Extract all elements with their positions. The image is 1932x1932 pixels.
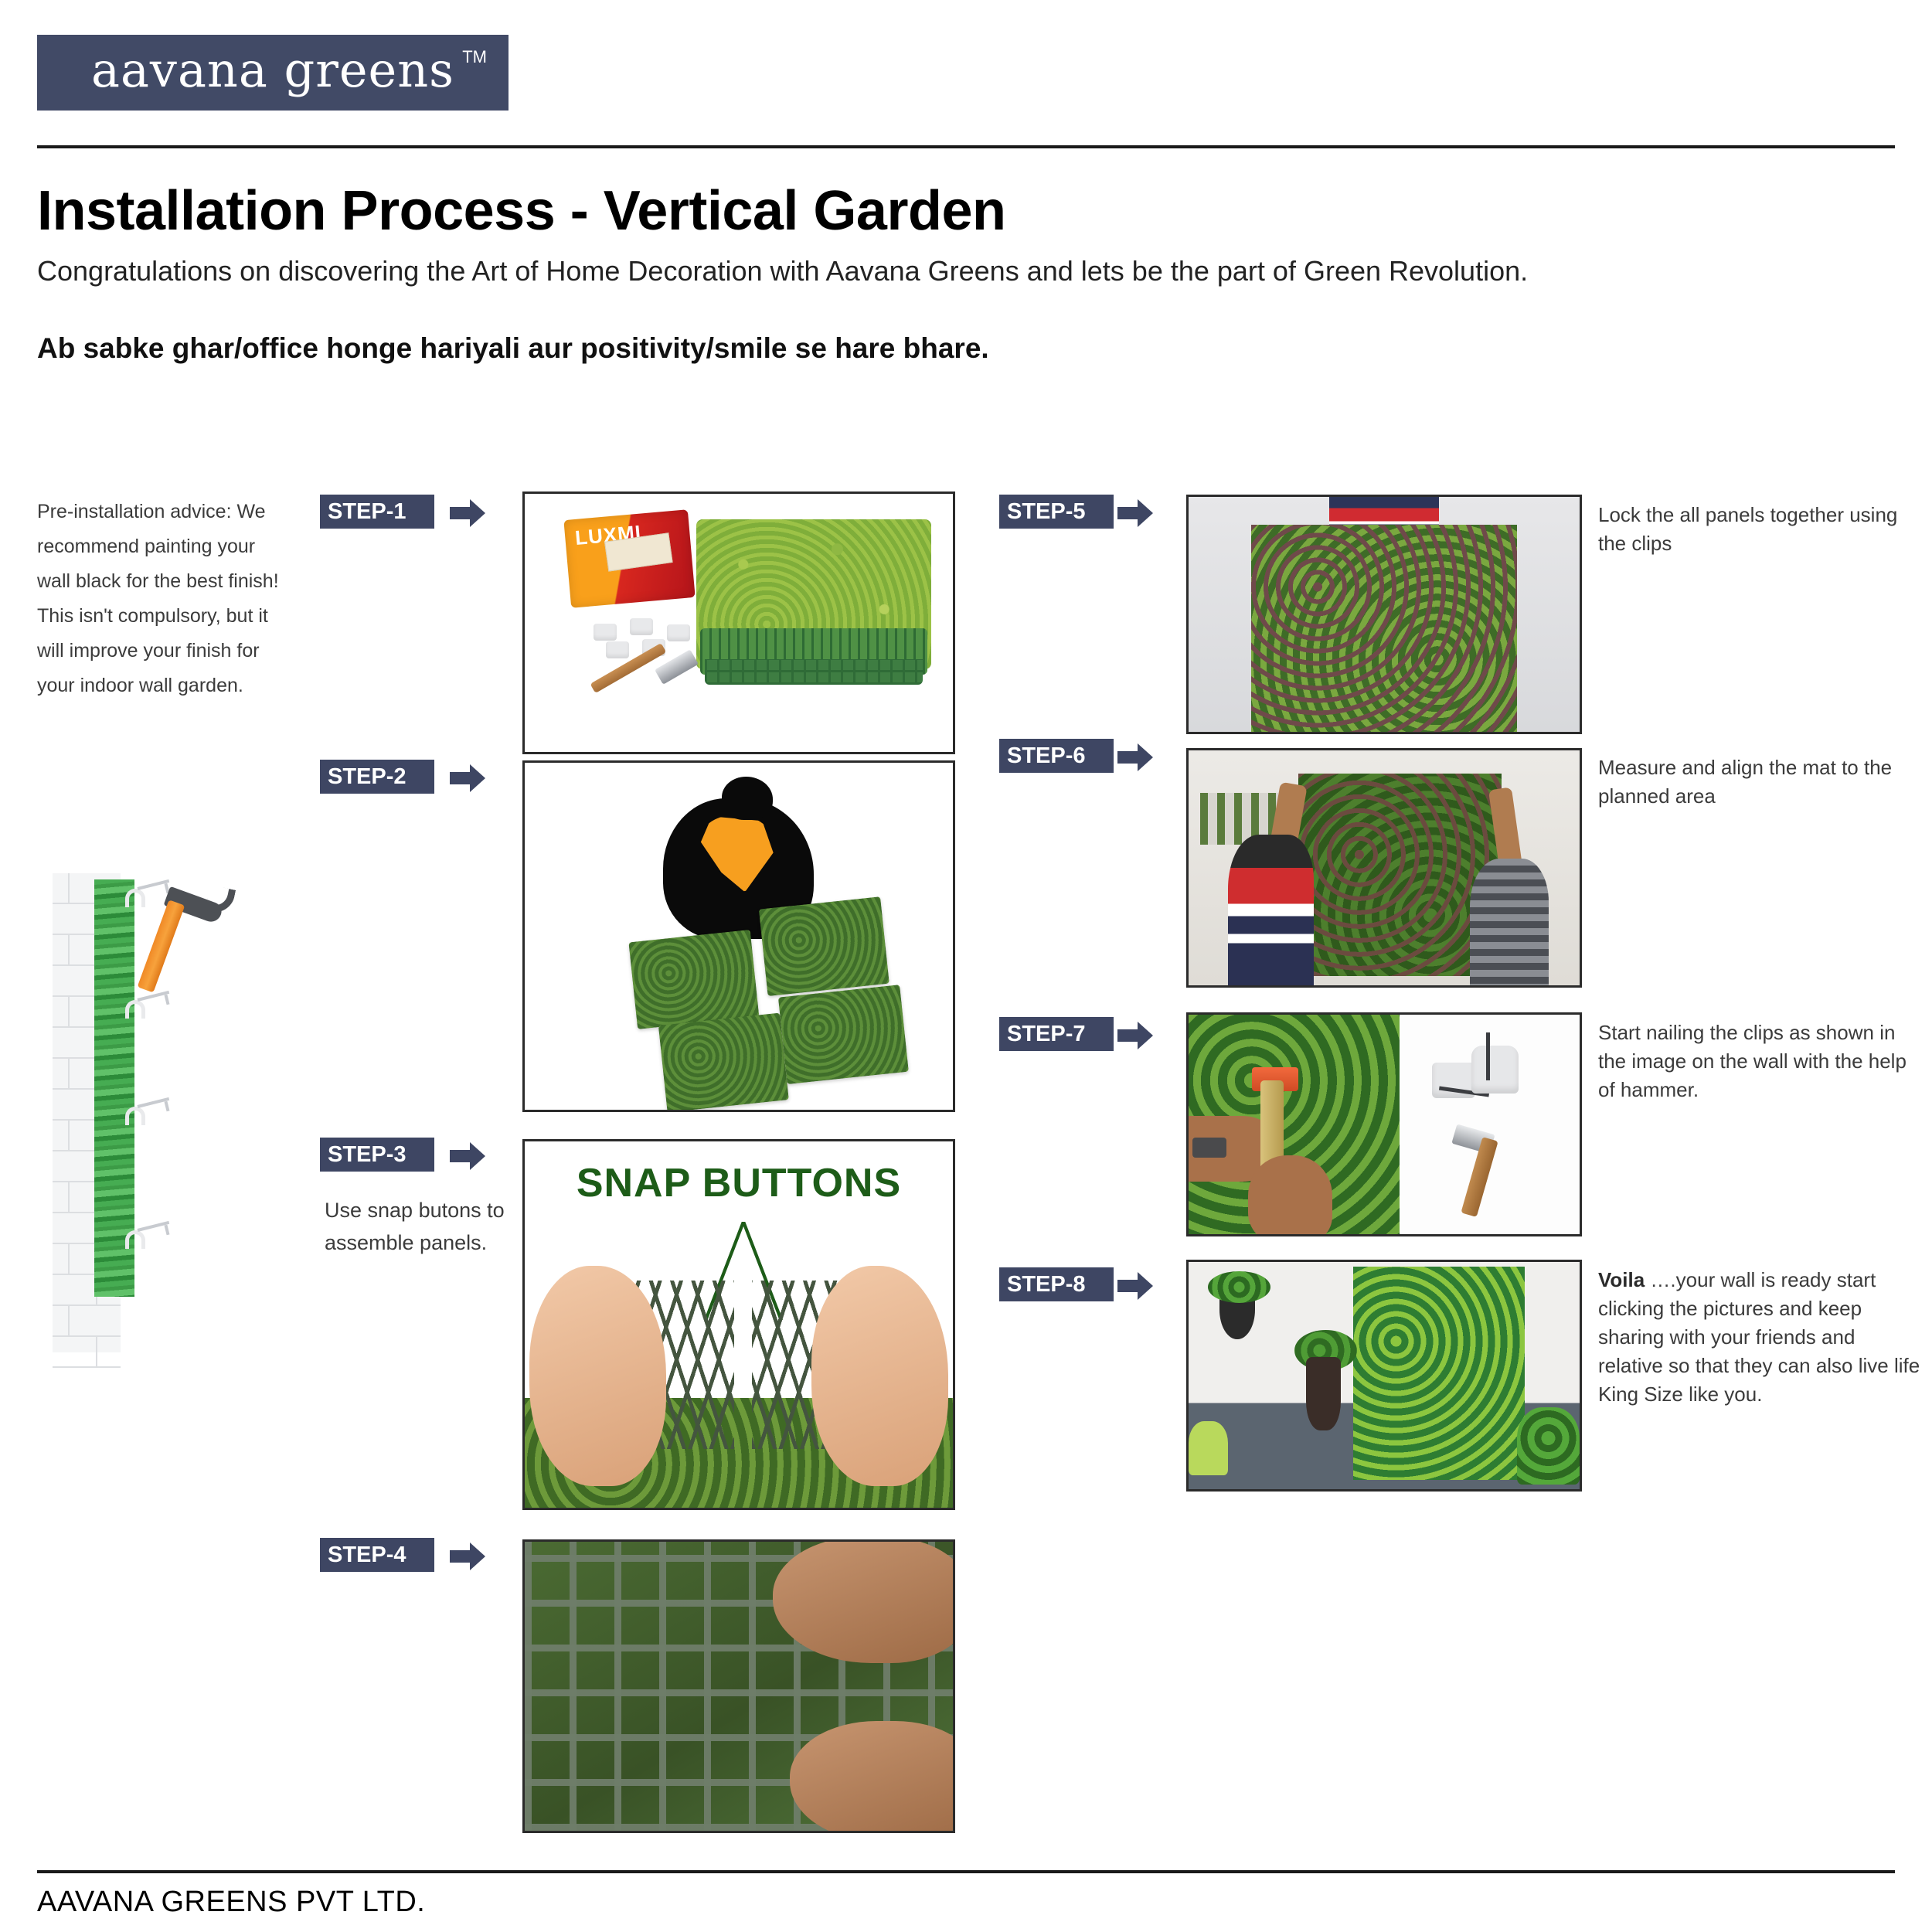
snap-buttons-label: SNAP BUTTONS (525, 1160, 953, 1206)
step-badge-8: STEP-8 (999, 1267, 1114, 1301)
step-6-description: Measure and align the mat to the planned… (1598, 753, 1923, 811)
clip-and-hammer-product-photo (1400, 1015, 1580, 1234)
arrow-right-icon (1117, 1020, 1153, 1051)
step-6-image (1186, 748, 1582, 988)
arrow-right-icon (1117, 742, 1153, 773)
clip-nail-icon (125, 1105, 170, 1127)
brand-logo: aavana greens TM (37, 35, 509, 111)
assembled-panel-photo (1251, 525, 1517, 732)
page-subtitle: Congratulations on discovering the Art o… (37, 255, 1528, 287)
step-7-description: Start nailing the clips as shown in the … (1598, 1019, 1923, 1104)
clip-packet-photo: LUXMI (564, 509, 696, 607)
hand-left-photo (529, 1266, 666, 1485)
corner-plant (1517, 1407, 1580, 1485)
brand-logo-text: aavana greens (91, 46, 454, 94)
trademark-icon: TM (462, 47, 487, 67)
arrow-right-icon (1117, 1270, 1153, 1301)
step-badge-1: STEP-1 (320, 495, 434, 529)
clip-nail-icon (125, 1229, 170, 1250)
step-3-note: Use snap butons to assemble panels. (325, 1194, 510, 1259)
arrow-right-icon (450, 763, 485, 794)
arrow-right-icon (450, 498, 485, 529)
hand-right-photo (811, 1266, 948, 1485)
finished-green-wall-photo (1353, 1267, 1526, 1480)
hammer-icon (162, 881, 255, 1005)
step-8-description: Voila ….your wall is ready start clickin… (1598, 1266, 1923, 1409)
step-badge-6: STEP-6 (999, 739, 1114, 773)
arrow-right-icon (450, 1141, 485, 1172)
four-panel-tiles (627, 895, 911, 1112)
hand-lower-photo (790, 1721, 955, 1833)
step-7-image (1186, 1012, 1582, 1236)
header-divider (37, 145, 1895, 148)
nailing-clip-photo (1189, 1015, 1400, 1234)
step-8-image (1186, 1260, 1582, 1492)
page-title: Installation Process - Vertical Garden (37, 179, 1005, 243)
step-badge-3: STEP-3 (320, 1138, 434, 1172)
step-4-image (522, 1539, 955, 1833)
step-3-image: SNAP BUTTONS (522, 1139, 955, 1510)
step-8-description-text: ….your wall is ready start clicking the … (1598, 1268, 1920, 1406)
step-badge-4: STEP-4 (320, 1538, 434, 1572)
step-1-image: LUXMI (522, 492, 955, 754)
office-chair (1189, 1421, 1228, 1476)
installer-striped-shirt (1228, 835, 1314, 985)
page-tagline: Ab sabke ghar/office honge hariyali aur … (37, 332, 989, 365)
installation-guide-page: aavana greens TM Installation Process - … (0, 0, 1932, 1932)
arrow-right-icon (450, 1541, 485, 1572)
pre-installation-advice: Pre-installation advice: We recommend pa… (37, 495, 292, 703)
footer-divider (37, 1870, 1895, 1873)
step-badge-5: STEP-5 (999, 495, 1114, 529)
hanging-plant-foliage (1208, 1271, 1270, 1303)
footer-company-name: AAVANA GREENS PVT LTD. (37, 1886, 425, 1919)
voila-highlight: Voila (1598, 1268, 1645, 1291)
wall-cross-section-illustration (46, 873, 255, 1352)
step-badge-2: STEP-2 (320, 760, 434, 794)
installer-gray-shirt (1470, 859, 1548, 985)
step-badge-7: STEP-7 (999, 1017, 1114, 1051)
mat-backing-grid (705, 659, 923, 685)
floor-planter-pot (1306, 1357, 1342, 1430)
hammer-photo (585, 654, 722, 731)
step-2-image (522, 760, 955, 1112)
step-5-image (1186, 495, 1582, 734)
step-5-description: Lock the all panels together using the c… (1598, 501, 1923, 558)
arrow-right-icon (1117, 498, 1153, 529)
